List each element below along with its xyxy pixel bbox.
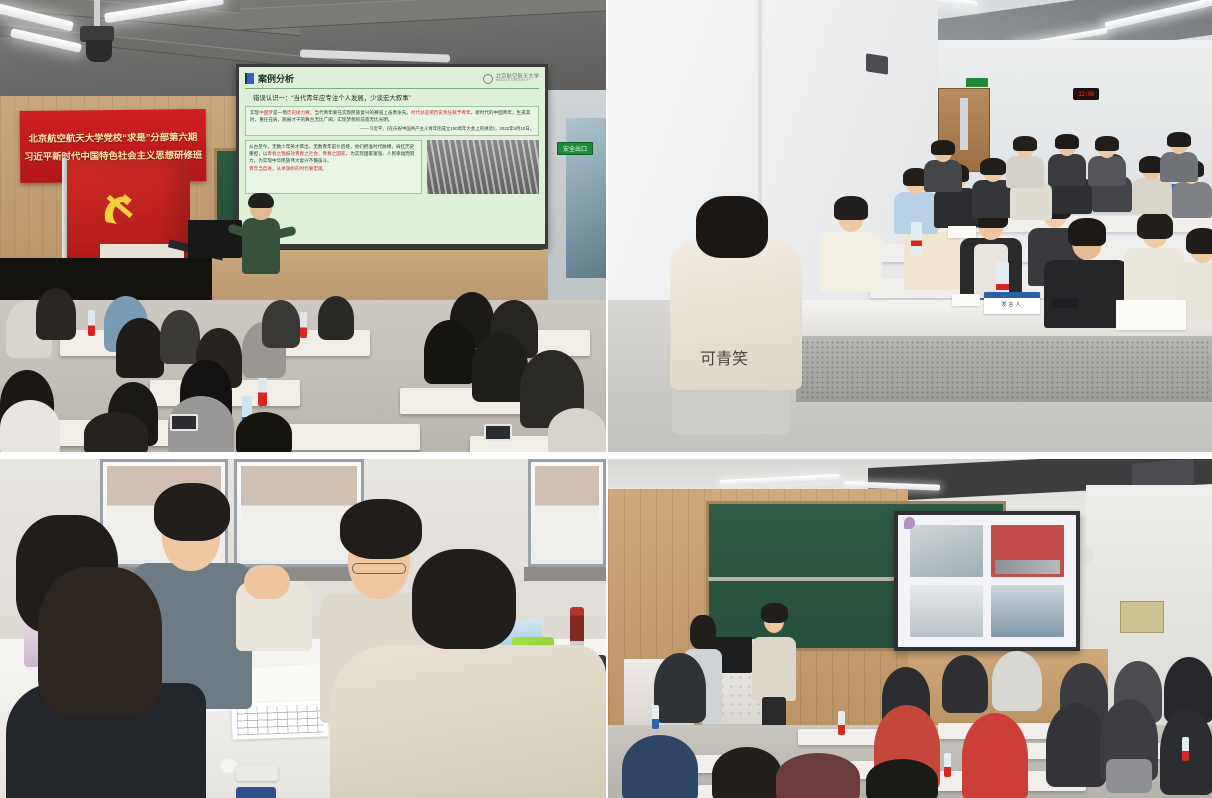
student-back-row <box>1088 136 1126 186</box>
logo-en: BEIHANG UNIVERSITY <box>496 80 539 83</box>
slide-header: 案例分析 北京航空航天大学 BEIHANG UNIVERSITY <box>245 72 539 85</box>
photo-group-discussion <box>0 459 606 798</box>
hair <box>1095 136 1119 151</box>
torso <box>1124 248 1184 308</box>
slide-balloon-icon <box>904 517 915 529</box>
hair <box>1137 212 1173 239</box>
water-bottle <box>1182 737 1189 761</box>
photo-party-school-lecture: 安全出口 北京航空航天大学党校“求是”分部第六期 习近平新时代中国特色社会主义思… <box>0 0 606 452</box>
slide-quote-box: 实现中国梦是一场历史接力赛，当代青年要在实现民族复兴的赛道上奋勇争先。时代总是把… <box>245 106 539 136</box>
torso <box>820 232 882 292</box>
torso <box>1160 152 1198 182</box>
panel-top-left: 安全出口 北京航空航天大学党校“求是”分部第六期 习近平新时代中国特色社会主义思… <box>0 0 606 455</box>
water-bottle <box>88 310 95 336</box>
torso <box>1172 182 1212 218</box>
student-back-row <box>1006 136 1044 188</box>
slide-photo-campus-building <box>910 525 983 577</box>
student-blue-jacket <box>622 735 698 798</box>
torso <box>752 637 796 701</box>
hair <box>834 196 868 220</box>
p1b: 是一场 <box>273 110 287 115</box>
slide-paragraph-3: 青年当自进，从举旗帜的时代要宏观。 <box>249 166 418 173</box>
student-seated <box>866 759 938 798</box>
speaking-student-back-view: 可青笑 <box>670 196 802 436</box>
torso <box>1006 156 1044 188</box>
p1-hi3: 时代总是把历史责任赋予青年 <box>411 110 471 115</box>
projection-screen <box>894 511 1080 651</box>
exit-sign: 安全出口 <box>557 142 593 155</box>
slide-paragraph-2: 从古至今，无数少年英才辈出，无数青年前仆后继，他们把准时代脉搏，肩扛历史重担，以… <box>249 144 418 165</box>
lecturer-body <box>242 218 280 274</box>
student-seated <box>654 653 706 723</box>
slide-paragraph-1: 实现中国梦是一场历史接力赛，当代青年要在实现民族复兴的赛道上奋勇争先。时代总是把… <box>250 110 534 124</box>
slide-photo-grid <box>910 525 1064 637</box>
panel-bottom-left <box>0 455 606 798</box>
p1a: 实现 <box>250 110 259 115</box>
torso <box>1132 178 1172 214</box>
beige-jacket: 可青笑 <box>670 240 802 390</box>
student-smiling <box>820 196 882 292</box>
mobile-phone <box>236 765 278 781</box>
slide-title: 案例分析 <box>258 72 294 85</box>
paper-note <box>948 226 976 238</box>
lecturer-figure <box>236 196 286 292</box>
paper-note <box>1116 300 1186 330</box>
student-seated <box>942 655 988 713</box>
hair <box>1068 218 1106 246</box>
logo-text: 北京航空航天大学 BEIHANG UNIVERSITY <box>496 75 539 83</box>
student-back-row <box>1048 134 1086 186</box>
hair <box>412 549 516 649</box>
student-seated <box>116 318 164 378</box>
hair <box>690 615 716 649</box>
student-seated <box>318 296 354 340</box>
water-bottle <box>838 711 845 735</box>
student-red-jacket <box>962 713 1028 798</box>
panel-top-right: 12:08 可青笑 <box>606 0 1212 455</box>
mobile-phone <box>1052 298 1078 308</box>
wall-speaker <box>866 53 888 74</box>
exit-sign-label: 安全出口 <box>563 144 587 153</box>
water-bottle <box>944 753 951 777</box>
lecturer-hair <box>248 193 274 208</box>
student-seated <box>1046 703 1106 787</box>
slide-title-group: 案例分析 <box>245 72 294 85</box>
p1c: ，当代青年要在实现民族复兴的赛道上奋勇争先。 <box>310 110 411 115</box>
jacket-calligraphy: 可青笑 <box>700 352 750 410</box>
student-seated <box>548 408 606 452</box>
mobile-phone <box>236 787 276 798</box>
photo-student-presentation <box>608 459 1212 798</box>
student-hand-raised <box>226 527 312 647</box>
desk-nameplate: 发言人 <box>984 292 1040 314</box>
p1-hi1: 中国梦 <box>259 110 273 115</box>
torso <box>1088 156 1126 186</box>
nameplate-text: 发言人 <box>984 301 1040 308</box>
relief-sculpture-image <box>427 140 539 194</box>
desk-modesty-panel <box>796 336 1212 402</box>
student-striped-shirt <box>992 651 1042 711</box>
clock-display: 12:08 <box>1078 91 1094 98</box>
hammer-sickle-emblem <box>96 188 146 236</box>
student-seated <box>236 412 292 452</box>
slide-lower-row: 从古至今，无数少年英才辈出，无数青年前仆后继，他们把准时代脉搏，肩扛历史重担，以… <box>245 140 539 194</box>
student-seated <box>424 320 476 384</box>
torso <box>924 160 962 192</box>
tablet-device <box>484 424 512 441</box>
hair <box>1055 134 1079 149</box>
paper-note <box>952 294 980 306</box>
hoodie <box>330 645 606 798</box>
projector-lens <box>86 40 112 62</box>
slide-photo-title-card <box>991 525 1064 577</box>
water-bottle <box>652 705 659 729</box>
slide-photo-classroom <box>910 585 983 637</box>
hair <box>761 603 788 623</box>
hair <box>931 140 955 155</box>
water-bottle <box>300 312 307 338</box>
slide-citation: ——习近平，《在庆祝中国共产主义青年团成立100周年大会上的讲话》，2022年5… <box>250 126 534 132</box>
wall-sign <box>1120 601 1164 633</box>
slide-question: 错误认识一：“当代青年应专注个人发展，少谈宏大叙事” <box>253 93 539 102</box>
slide-lower-text: 从古至今，无数少年英才辈出，无数青年前仆后继，他们把准时代脉搏，肩扛历史重担，以… <box>245 140 422 194</box>
led-clock: 12:08 <box>1073 88 1099 100</box>
hair <box>1186 228 1212 254</box>
p1-hi2: 历史接力赛 <box>287 110 310 115</box>
slide-photo-exhibition <box>991 585 1064 637</box>
hair <box>980 158 1006 175</box>
student-seated <box>160 310 200 364</box>
photo-seminar-discussion: 12:08 可青笑 <box>608 0 1212 452</box>
dome-camera-icon <box>1078 547 1094 563</box>
water-bottle <box>911 222 922 256</box>
hair <box>154 483 230 541</box>
p2-hi: 青春之我报效青春之社会、青春之国家 <box>267 151 345 156</box>
student-back-row <box>1160 132 1198 182</box>
hand <box>244 565 290 599</box>
book-icon <box>245 73 254 84</box>
hair <box>1013 136 1037 151</box>
photo-collage: 安全出口 北京航空航天大学党校“求是”分部第六期 习近平新时代中国特色社会主义思… <box>0 0 1212 798</box>
backpack <box>1106 759 1152 793</box>
student-seated <box>776 753 860 798</box>
student-seated <box>0 400 60 452</box>
hair <box>1167 132 1191 147</box>
student-seated <box>712 747 782 798</box>
student-seated <box>36 288 76 340</box>
flag-pole <box>62 158 67 270</box>
torso <box>1048 154 1086 186</box>
banner-line-1: 北京航空航天大学党校“求是”分部第六期 <box>28 129 197 145</box>
panel-bottom-right <box>606 455 1212 798</box>
hair <box>38 567 162 717</box>
window-view <box>535 466 599 560</box>
tablet-device <box>170 414 198 431</box>
student-seated <box>1124 212 1184 308</box>
student-seated <box>84 412 148 452</box>
presenter-male <box>752 601 796 729</box>
exit-sign <box>966 78 988 87</box>
student-seated <box>262 300 300 348</box>
hair <box>696 196 768 258</box>
university-logo: 北京航空航天大学 BEIHANG UNIVERSITY <box>483 74 539 84</box>
student-dark-jacket-back <box>6 567 206 798</box>
student-back-row <box>924 140 962 192</box>
logo-mark-icon <box>483 74 493 84</box>
slide-divider <box>245 88 539 89</box>
student-beige-hoodie-back <box>330 549 606 798</box>
